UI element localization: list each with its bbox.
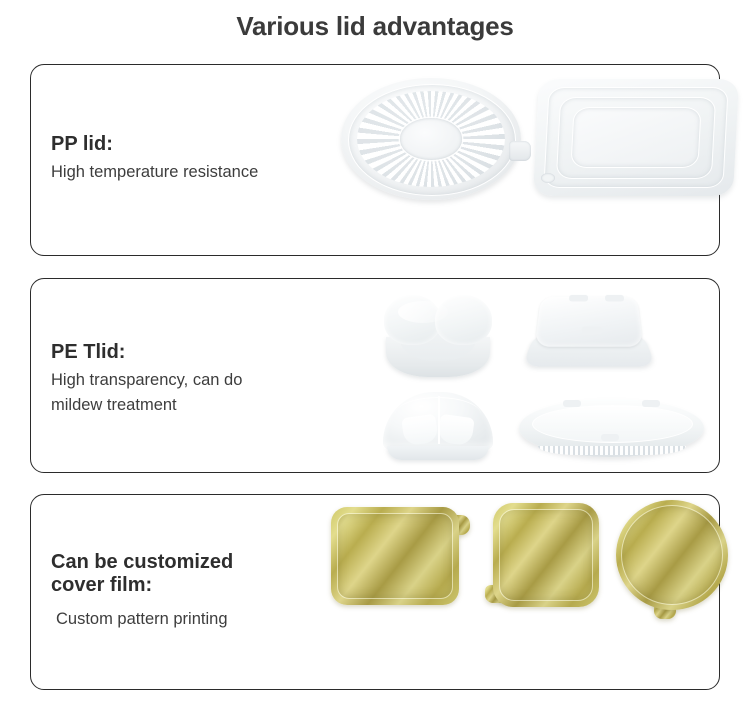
dome-pe-lid-arc — [395, 397, 481, 432]
round-gold-foil-lid-image — [616, 500, 728, 610]
round-pp-lid-tab — [509, 141, 531, 161]
card-pe-tlid: PE Tlid: High transparency, can do milde… — [30, 278, 720, 473]
square-pe-lid-image — [529, 291, 649, 369]
card-pe-tlid-text: PE Tlid: High transparency, can do milde… — [51, 341, 242, 418]
card-pe-tlid-heading: PE Tlid: — [51, 341, 242, 364]
square-gold-foil-lid-rim — [499, 509, 593, 601]
card-pp-lid-heading: PP lid: — [51, 133, 258, 156]
card-pp-lid: PP lid: High temperature resistance — [30, 64, 720, 256]
rectangular-pp-lid-ridge-inner — [570, 107, 701, 168]
round-pp-lid-center — [400, 118, 461, 159]
square-pe-lid-notch-2 — [605, 295, 624, 302]
card-cover-film-text: Can be customized cover film: Custom pat… — [51, 551, 233, 632]
card-pp-lid-products — [331, 65, 719, 255]
oval-pe-lid-notch-1 — [563, 400, 581, 407]
round-gold-foil-lid-body — [616, 500, 728, 610]
heart-pe-lid-image — [384, 295, 492, 377]
square-gold-foil-lid-image — [493, 503, 599, 607]
rectangular-gold-foil-lid-body — [331, 507, 459, 605]
dome-pe-lid-image — [383, 392, 493, 460]
card-pe-tlid-body: High transparency, can do mildew treatme… — [51, 368, 242, 418]
square-pe-lid-notch-3 — [582, 327, 603, 335]
card-cover-film-heading: Can be customized cover film: — [51, 551, 233, 597]
heart-pe-lid-lobe-right — [435, 295, 492, 345]
round-gold-foil-lid-rim — [621, 505, 723, 605]
oval-pe-lid-notch-3 — [601, 434, 619, 441]
oval-pe-lid-image — [519, 399, 704, 457]
card-pp-lid-text: PP lid: High temperature resistance — [51, 133, 258, 185]
oval-pe-lid-knurling — [538, 446, 686, 455]
dome-pe-lid-base — [387, 446, 489, 460]
card-pe-tlid-products — [331, 279, 719, 472]
rectangular-pp-lid-image — [536, 79, 736, 196]
square-pe-lid-top — [535, 296, 644, 346]
card-cover-film: Can be customized cover film: Custom pat… — [30, 494, 720, 690]
card-cover-film-products — [331, 495, 719, 689]
page-title: Various lid advantages — [0, 0, 750, 36]
heart-pe-lid-dome — [384, 295, 492, 353]
rectangular-gold-foil-lid-image — [331, 507, 459, 605]
card-pp-lid-body: High temperature resistance — [51, 160, 258, 185]
card-cover-film-body: Custom pattern printing — [51, 601, 233, 632]
square-pe-lid-notch-1 — [569, 295, 588, 302]
rectangular-pp-lid-notch — [541, 173, 555, 183]
oval-pe-lid-notch-2 — [642, 400, 660, 407]
heart-pe-lid-highlight — [398, 301, 448, 323]
rectangular-gold-foil-lid-rim — [337, 513, 453, 599]
square-gold-foil-lid-body — [493, 503, 599, 607]
round-pp-lid-image — [341, 78, 521, 200]
